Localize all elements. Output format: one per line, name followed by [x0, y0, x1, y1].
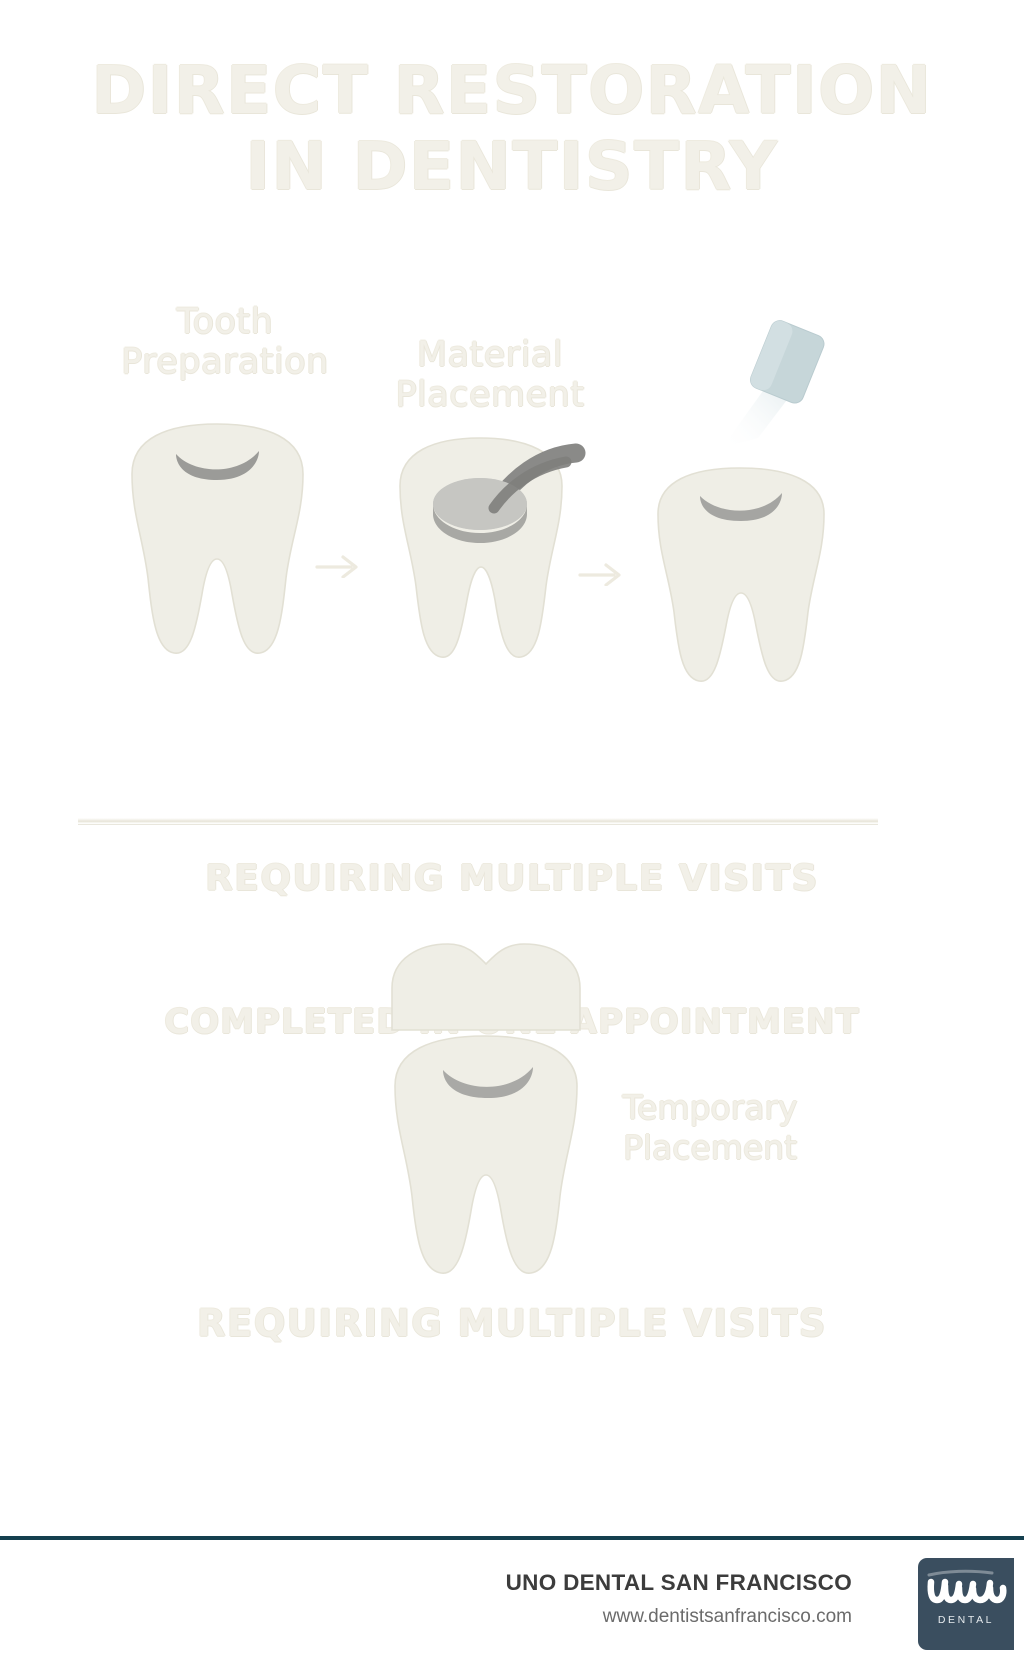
step-label-tooth-preparation: Tooth Preparation — [90, 302, 360, 382]
requiring-multiple-visits-caption: REQUIRING MULTIPLE VISITS — [0, 1302, 1024, 1345]
indirect-restoration-section: REQUIRING MULTIPLE VISITS Temporary Plac… — [0, 850, 1024, 1450]
requiring-multiple-visits-heading: REQUIRING MULTIPLE VISITS — [0, 858, 1024, 899]
step-label-temporary-placement: Temporary Placement — [585, 1088, 835, 1168]
arrow-right-icon — [315, 552, 367, 578]
arrow-right-icon — [578, 560, 630, 586]
step-label-line-1: Material — [360, 335, 620, 375]
step-label-line-1: Temporary — [585, 1088, 835, 1128]
uno-wordmark-icon — [918, 1564, 1014, 1616]
tooth-filled-icon — [648, 462, 834, 687]
dental-crown-icon — [388, 942, 584, 1032]
footer: UNO DENTAL SAN FRANCISCO www.dentistsanf… — [0, 1540, 1024, 1666]
footer-brand-name: UNO DENTAL SAN FRANCISCO — [506, 1570, 852, 1596]
page-title-line-2: IN DENTISTRY — [0, 134, 1024, 200]
curing-light-icon — [700, 320, 850, 465]
footer-website-url[interactable]: www.dentistsanfrancisco.com — [506, 1606, 852, 1628]
step-label-line-2: Preparation — [90, 342, 360, 382]
page-title: DIRECT RESTORATION IN DENTISTRY — [0, 58, 1024, 200]
step-label-material-placement: Material Placement — [360, 335, 620, 415]
uno-dental-logo[interactable]: DENTAL — [918, 1558, 1014, 1650]
logo-subtitle: DENTAL — [918, 1614, 1014, 1626]
step-label-line-2: Placement — [360, 375, 620, 415]
step-label-line-1: Tooth — [90, 302, 360, 342]
step-label-line-2: Placement — [585, 1128, 835, 1168]
tooth-prepared-icon — [385, 1030, 587, 1290]
tooth-prepared-icon — [120, 418, 315, 660]
tooth-with-instrument-icon — [390, 432, 576, 664]
page-title-line-1: DIRECT RESTORATION — [0, 58, 1024, 124]
section-divider — [78, 818, 878, 825]
direct-restoration-section: Tooth Preparation Material Placement — [0, 280, 1024, 800]
footer-brand-block: UNO DENTAL SAN FRANCISCO www.dentistsanf… — [506, 1570, 852, 1628]
